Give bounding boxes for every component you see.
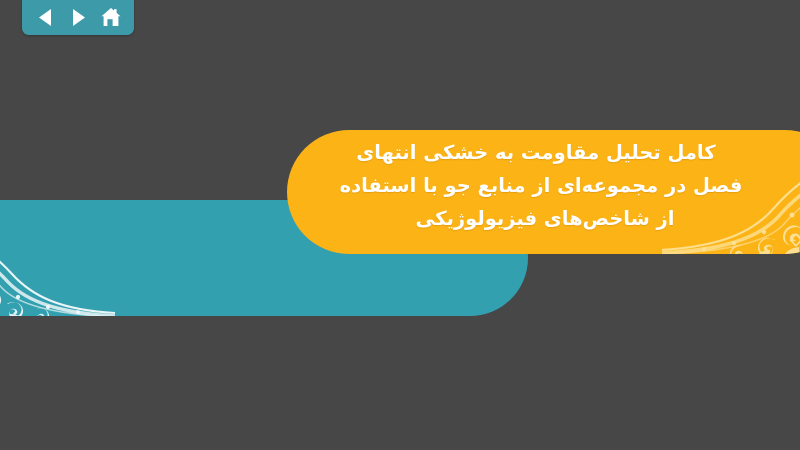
back-button[interactable]	[30, 4, 60, 30]
navigation-bar	[22, 0, 134, 35]
home-button[interactable]	[96, 4, 126, 30]
home-icon	[100, 7, 122, 28]
orange-title-card	[287, 130, 800, 254]
triangle-right-icon	[70, 8, 87, 27]
arabesque-corner-ornament	[0, 200, 115, 316]
forward-button[interactable]	[63, 4, 93, 30]
slide-canvas: کامل تحلیل مقاومت به خشکی انتهای فصل در …	[0, 0, 800, 450]
triangle-left-icon	[37, 8, 54, 27]
arabesque-corner-ornament	[662, 130, 800, 254]
